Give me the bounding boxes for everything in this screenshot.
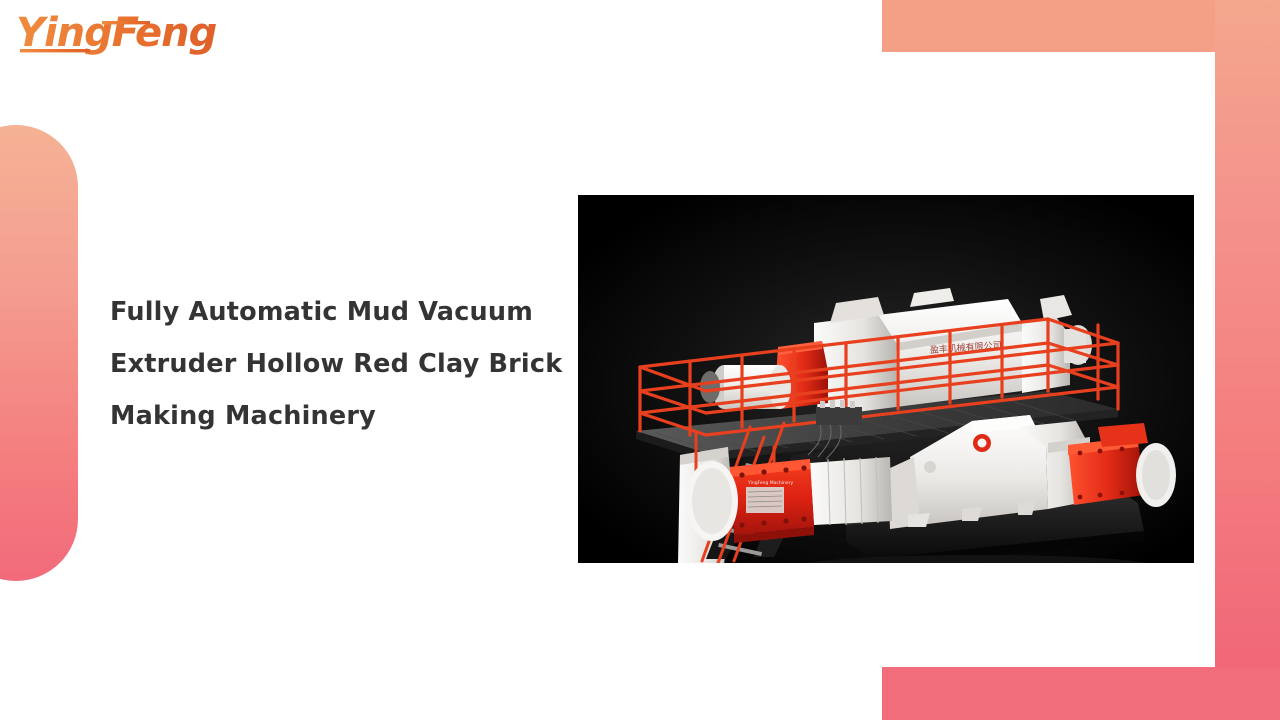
page-title-line-3: Making Machinery bbox=[110, 390, 560, 442]
page-title: Fully Automatic Mud Vacuum Extruder Holl… bbox=[110, 286, 560, 442]
logo-underline-left bbox=[20, 49, 90, 52]
decorative-bottom-right-bar bbox=[882, 667, 1280, 720]
brand-logo[interactable]: YingFeng bbox=[16, 12, 216, 58]
slide-canvas: YingFeng Fully Automatic Mud Vacuum Extr… bbox=[0, 0, 1280, 720]
svg-text:YingFeng Machinery: YingFeng Machinery bbox=[747, 480, 793, 486]
page-title-line-2: Extruder Hollow Red Clay Brick bbox=[110, 338, 560, 390]
product-image-content: 盈丰机械有限公司 bbox=[578, 195, 1194, 563]
logo-overline-f bbox=[102, 21, 150, 24]
decorative-left-pill bbox=[0, 125, 78, 581]
decorative-right-band bbox=[1215, 0, 1280, 720]
product-image[interactable]: 盈丰机械有限公司 bbox=[578, 195, 1194, 563]
page-title-line-1: Fully Automatic Mud Vacuum bbox=[110, 286, 560, 338]
